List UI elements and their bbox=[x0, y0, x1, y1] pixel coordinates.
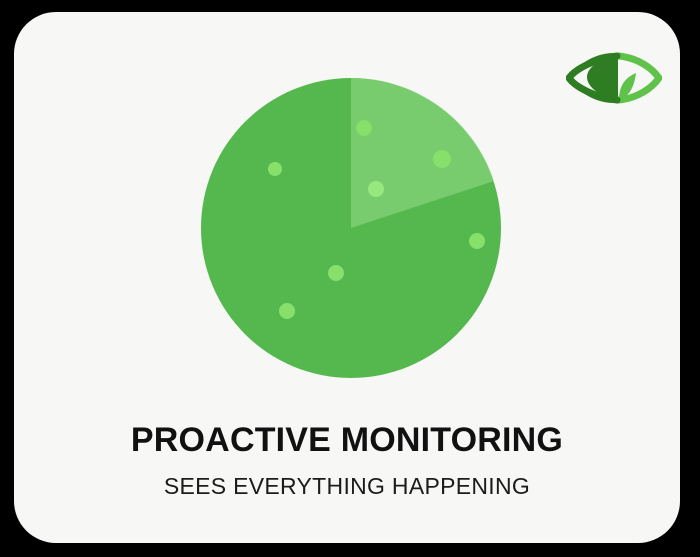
blip-right bbox=[469, 233, 485, 249]
screenshot-stage: PROACTIVE MONITORING SEES EVERYTHING HAP… bbox=[0, 0, 700, 557]
page-subtitle: SEES EVERYTHING HAPPENING bbox=[14, 473, 680, 501]
caption-block: PROACTIVE MONITORING SEES EVERYTHING HAP… bbox=[14, 420, 680, 500]
blip-top bbox=[356, 120, 372, 136]
feature-card: PROACTIVE MONITORING SEES EVERYTHING HAP… bbox=[14, 12, 680, 543]
blip-lower-left bbox=[279, 303, 295, 319]
page-title: PROACTIVE MONITORING bbox=[14, 420, 680, 461]
blip-center-lower bbox=[328, 265, 344, 281]
blip-upper-right bbox=[433, 150, 451, 168]
blip-in-sweep bbox=[368, 181, 384, 197]
eye-leaf-logo bbox=[566, 47, 662, 109]
blip-upper-left bbox=[268, 162, 282, 176]
radar-scope bbox=[200, 77, 502, 379]
